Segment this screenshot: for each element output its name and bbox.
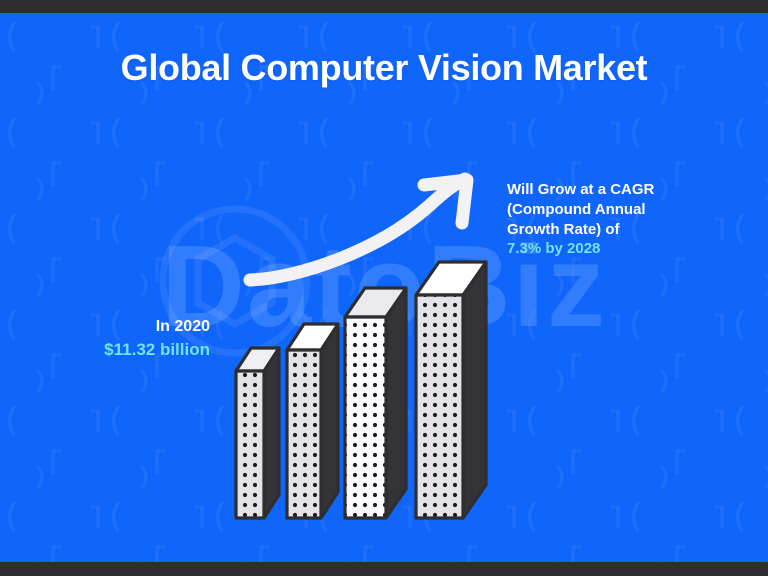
right-callout-line1: Will Grow at a CAGR (507, 180, 743, 200)
bar-4 (414, 262, 486, 522)
bar-2 (285, 324, 338, 522)
infographic-canvas: DatoBiz Global Computer Vision Market In… (0, 0, 768, 576)
right-callout-line3: Growth Rate) of (507, 220, 743, 240)
left-callout-line1: In 2020 (30, 316, 210, 338)
top-band (0, 0, 768, 13)
bar-1 (234, 348, 279, 522)
left-callout: In 2020 $11.32 billion (30, 316, 210, 362)
right-callout-accent: 7.3% by 2028 (507, 239, 743, 259)
bar-3 (343, 288, 406, 522)
right-callout-line2: (Compound Annual (507, 200, 743, 220)
right-callout: Will Grow at a CAGR (Compound Annual Gro… (507, 180, 743, 259)
bottom-band (0, 562, 768, 576)
page-title: Global Computer Vision Market (0, 48, 768, 88)
left-callout-value: $11.32 billion (30, 338, 210, 361)
